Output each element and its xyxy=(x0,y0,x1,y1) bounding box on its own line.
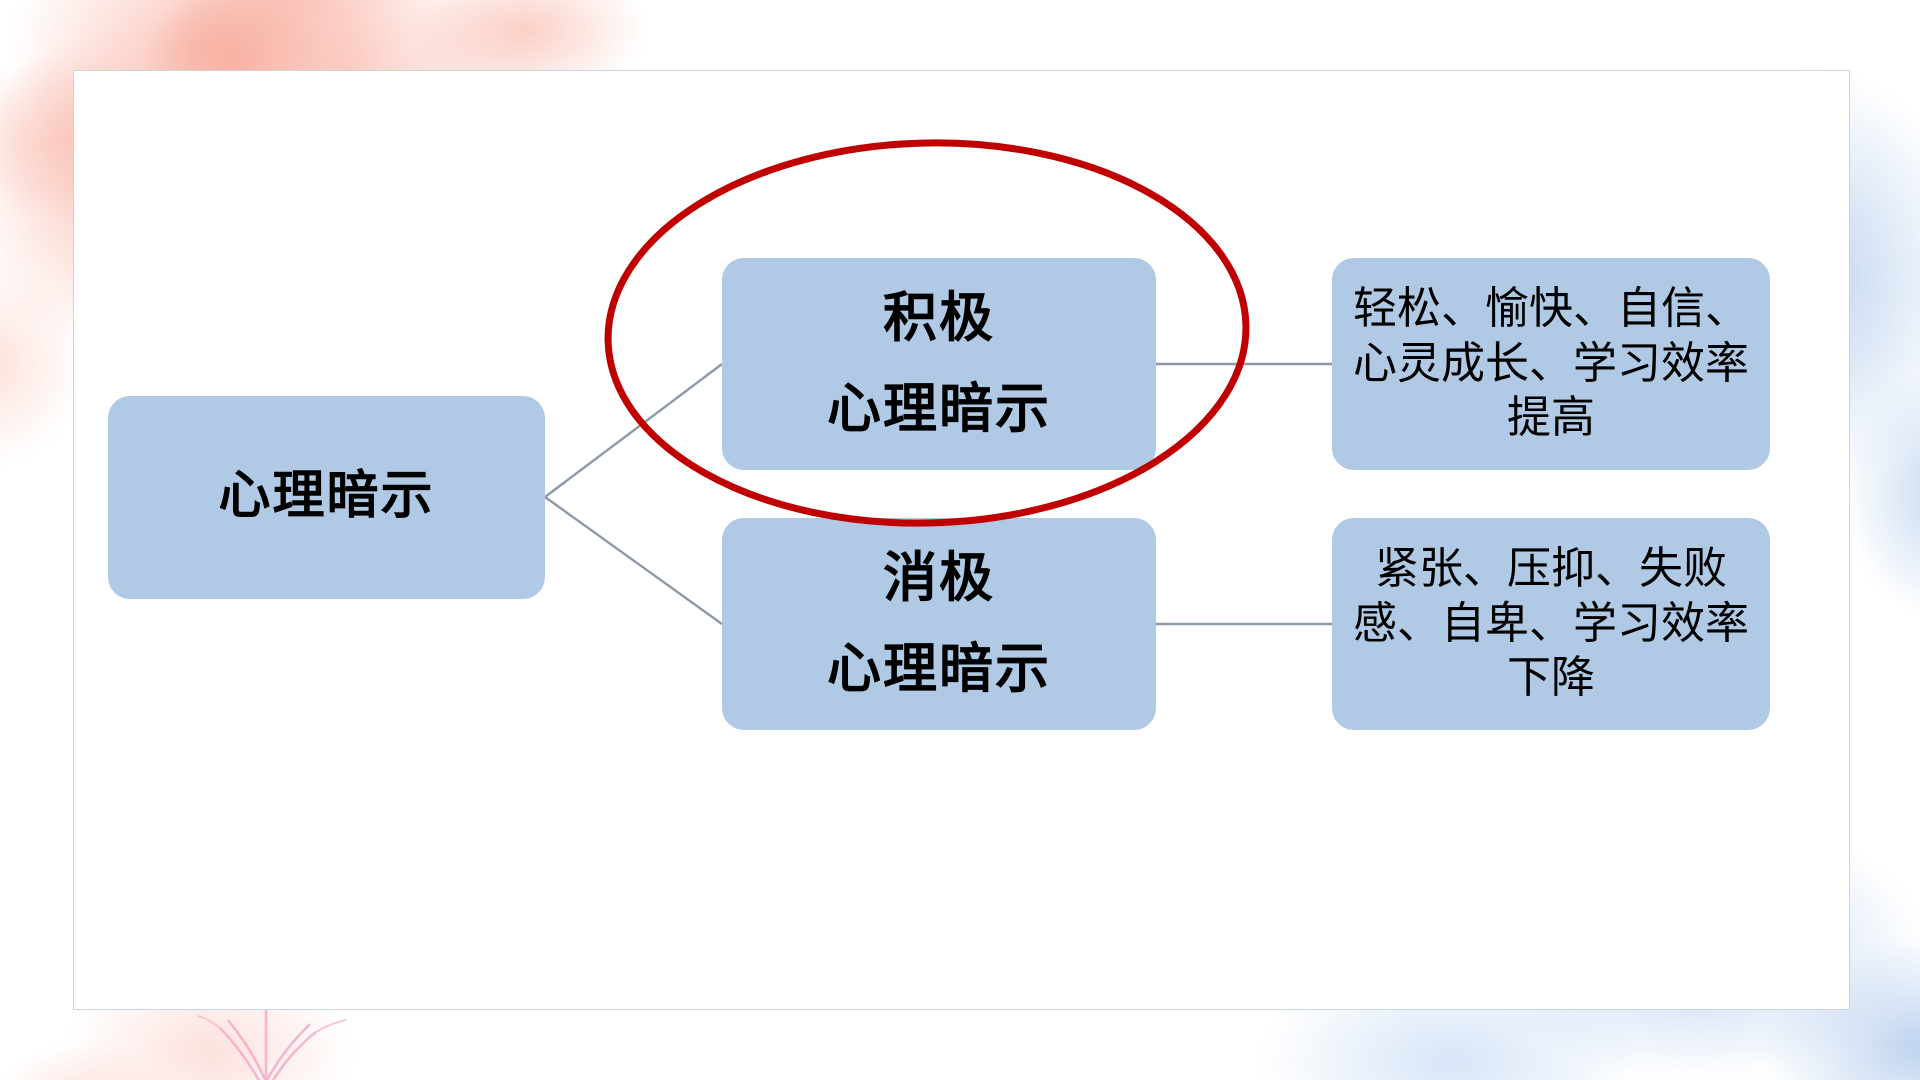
red-ellipse-highlight-icon xyxy=(602,138,1252,528)
node-negative-suggestion[interactable]: 消极 心理暗示 xyxy=(722,518,1156,730)
node-positive-outcome[interactable]: 轻松、愉快、自信、心灵成长、学习效率提高 xyxy=(1332,258,1770,470)
node-root-label: 心理暗示 xyxy=(218,464,434,531)
node-negative-outcome[interactable]: 紧张、压抑、失败感、自卑、学习效率下降 xyxy=(1332,518,1770,730)
node-positive-outcome-text: 轻松、愉快、自信、心灵成长、学习效率提高 xyxy=(1348,282,1754,446)
node-root-psychological-suggestion[interactable]: 心理暗示 xyxy=(108,396,545,599)
node-negative-label-line1: 消极 xyxy=(883,544,995,613)
slide-canvas: 心理暗示 积极 心理暗示 消极 心理暗示 轻松、愉快、自信、心灵成长、学习效率提… xyxy=(0,0,1920,1080)
node-negative-outcome-text: 紧张、压抑、失败感、自卑、学习效率下降 xyxy=(1348,542,1754,706)
node-negative-label-line2: 心理暗示 xyxy=(827,635,1051,704)
